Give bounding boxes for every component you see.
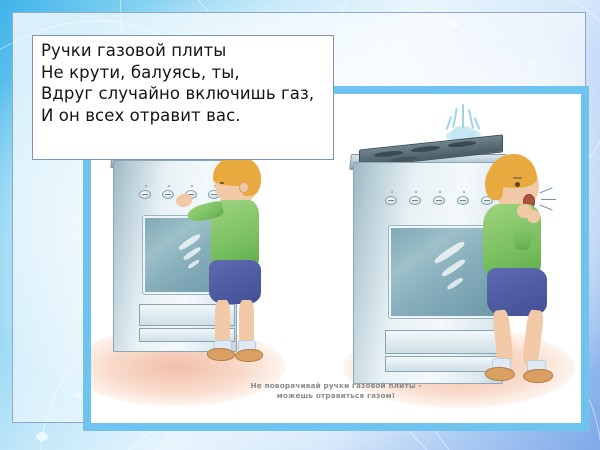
- oven-glass-glare: [447, 276, 465, 290]
- boy-leg: [522, 309, 545, 367]
- stove-knob-indicator-dot: [415, 191, 417, 193]
- illustration-right-scene: [349, 96, 579, 408]
- stove-knob[interactable]: [409, 196, 421, 205]
- stove-knob-indicator-dot: [391, 191, 393, 193]
- illustration-left-scene: [91, 132, 291, 407]
- boy-hand-at-throat: [527, 210, 540, 223]
- stove-knob-indicator-dot: [145, 185, 147, 187]
- boy-eye: [515, 182, 520, 187]
- poem-text-box: Ручки газовой плиты Не крути, балуясь, т…: [32, 35, 334, 160]
- boy-shoe: [207, 348, 235, 361]
- stove-knob[interactable]: [139, 190, 151, 199]
- stove-knob-indicator-dot: [439, 191, 441, 193]
- boy-shoe: [235, 349, 263, 362]
- stove-knob[interactable]: [385, 196, 397, 205]
- oven-glass-glare: [441, 258, 466, 278]
- cough-motion-line: [539, 187, 552, 193]
- slide-page-frame: Ручки газовой плиты Не крути, балуясь, т…: [12, 12, 586, 423]
- boy-ear: [239, 182, 249, 193]
- boy-shoe: [485, 367, 515, 381]
- cough-motion-line: [539, 204, 552, 210]
- boy-shorts: [209, 260, 261, 304]
- fume-wisp: [474, 117, 481, 130]
- fume-wisp: [452, 108, 457, 128]
- boy-eye: [220, 182, 224, 184]
- stove-knob-indicator-dot: [463, 191, 465, 193]
- fume-wisp: [462, 104, 464, 128]
- stove-knob-indicator-dot: [168, 185, 170, 187]
- slide: Ручки газовой плиты Не крути, балуясь, т…: [0, 0, 600, 450]
- illustration-caption: Не поворачивай ручки газовой плиты - мож…: [91, 381, 581, 401]
- cough-motion-line: [541, 199, 556, 200]
- boy-hair-side: [485, 168, 503, 200]
- stove-burner: [411, 145, 439, 153]
- boy-left: [189, 156, 285, 364]
- background-bokeh-dot: [36, 432, 48, 441]
- fume-wisp: [446, 116, 453, 130]
- stove-knob[interactable]: [162, 190, 174, 199]
- boy-shorts: [487, 268, 547, 316]
- stove-burner: [448, 140, 476, 148]
- boy-right: [467, 152, 577, 402]
- stove-knob-turned-on[interactable]: [433, 196, 445, 205]
- boy-eyebrow: [513, 177, 522, 179]
